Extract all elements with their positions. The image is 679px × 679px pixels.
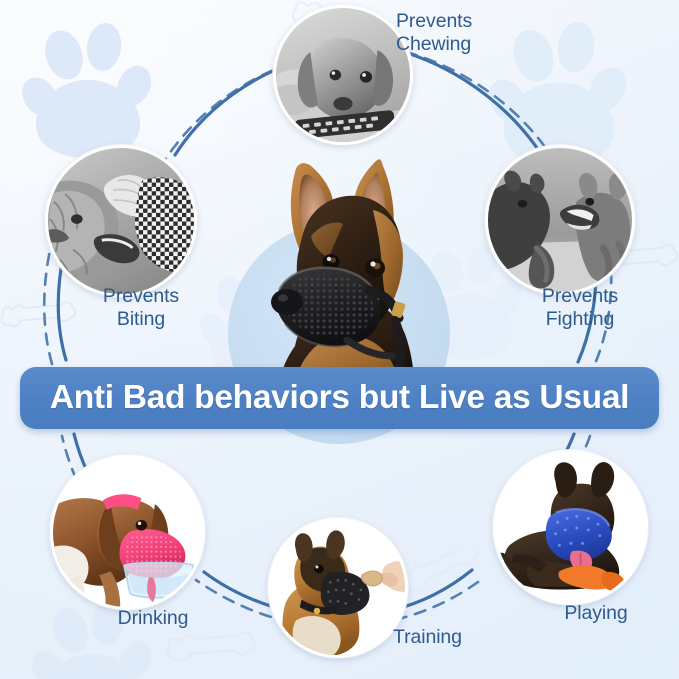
caption-training: Training [393, 626, 513, 649]
node-prevents-biting[interactable]: Prevents Biting [45, 145, 197, 297]
photo-playing-toy [493, 450, 648, 605]
product-infographic: Prevents Chewing [0, 0, 679, 679]
node-prevents-fighting[interactable]: Prevents Fighting [485, 145, 635, 295]
headline-text: Anti Bad behaviors but Live as Usual [50, 379, 629, 417]
photo-beagle-drinking [50, 455, 205, 610]
photo-dog-biting-sleeve [45, 145, 197, 297]
node-prevents-chewing[interactable]: Prevents Chewing [273, 5, 413, 145]
caption-drinking: Drinking [78, 607, 228, 630]
photo-dogs-fighting [485, 145, 635, 295]
caption-prevents-chewing: Prevents Chewing [396, 10, 546, 56]
headline-banner: Anti Bad behaviors but Live as Usual [20, 367, 659, 429]
node-training[interactable]: Training [268, 518, 408, 658]
caption-prevents-fighting: Prevents Fighting [505, 285, 655, 331]
center-dog-photo [243, 150, 439, 400]
node-playing[interactable]: Playing [493, 450, 648, 605]
caption-playing: Playing [521, 602, 671, 625]
caption-prevents-biting: Prevents Biting [66, 285, 216, 331]
photo-puppy-chewing-remote [273, 5, 413, 145]
photo-training-treat [268, 518, 408, 658]
node-drinking[interactable]: Drinking [50, 455, 205, 610]
